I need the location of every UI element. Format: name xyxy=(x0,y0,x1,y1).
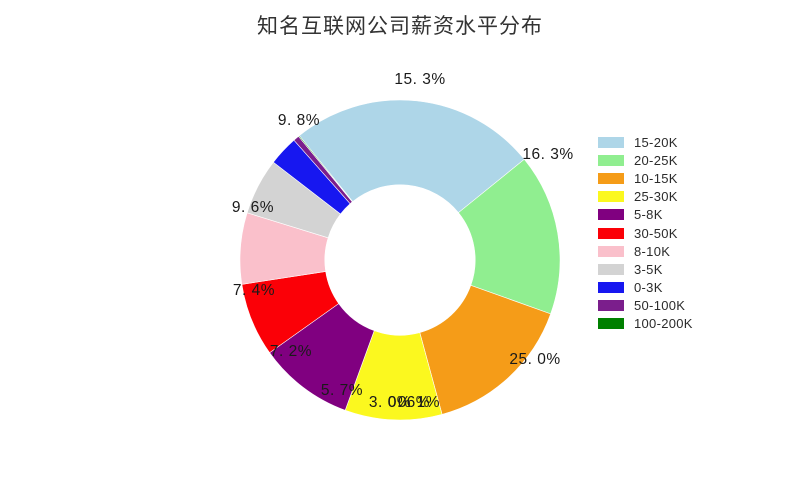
legend-item-20-25k[interactable]: 20-25K xyxy=(598,151,748,169)
legend-swatch-icon xyxy=(598,300,624,311)
legend-item-30-50k[interactable]: 30-50K xyxy=(598,224,748,242)
slice-value-label-20-25k: 16. 3% xyxy=(522,146,573,164)
slice-value-label-8-10k: 7. 2% xyxy=(270,343,312,361)
legend-swatch-icon xyxy=(598,264,624,275)
legend-item-label: 100-200K xyxy=(634,316,693,331)
legend-item-100-200k[interactable]: 100-200K xyxy=(598,315,748,333)
legend-swatch-icon xyxy=(598,191,624,202)
legend-item-label: 30-50K xyxy=(634,226,678,241)
slice-value-label-15-20k: 25. 0% xyxy=(509,351,560,369)
donut-slices xyxy=(240,100,560,420)
legend-item-label: 10-15K xyxy=(634,171,678,186)
legend-item-8-10k[interactable]: 8-10K xyxy=(598,242,748,260)
slice-value-label-25-30k: 9. 8% xyxy=(278,112,320,130)
slice-value-label-30-50k: 7. 4% xyxy=(233,282,275,300)
legend-swatch-icon xyxy=(598,282,624,293)
legend-item-label: 20-25K xyxy=(634,153,678,168)
chart-legend: 15-20K20-25K10-15K25-30K5-8K30-50K8-10K3… xyxy=(598,133,748,333)
legend-item-15-20k[interactable]: 15-20K xyxy=(598,133,748,151)
chart-title: 知名互联网公司薪资水平分布 xyxy=(0,10,800,40)
legend-item-50-100k[interactable]: 50-100K xyxy=(598,297,748,315)
legend-swatch-icon xyxy=(598,155,624,166)
legend-item-25-30k[interactable]: 25-30K xyxy=(598,188,748,206)
slice-value-label-10-15k: 15. 3% xyxy=(394,71,445,89)
legend-item-label: 0-3K xyxy=(634,280,663,295)
legend-item-10-15k[interactable]: 10-15K xyxy=(598,169,748,187)
pie-chart-figure: 知名互联网公司薪资水平分布 25. 0%16. 3%15. 3%9. 8%9. … xyxy=(0,0,800,480)
legend-swatch-icon xyxy=(598,209,624,220)
legend-swatch-icon xyxy=(598,246,624,257)
legend-item-label: 5-8K xyxy=(634,207,663,222)
legend-swatch-icon xyxy=(598,318,624,329)
legend-swatch-icon xyxy=(598,228,624,239)
legend-item-label: 3-5K xyxy=(634,262,663,277)
slice-value-label-3-5k: 5. 7% xyxy=(321,382,363,400)
legend-item-label: 15-20K xyxy=(634,135,678,150)
slice-value-label-100-200k: 0. 1% xyxy=(398,394,440,412)
legend-item-5-8k[interactable]: 5-8K xyxy=(598,206,748,224)
legend-item-3-5k[interactable]: 3-5K xyxy=(598,260,748,278)
legend-item-label: 8-10K xyxy=(634,244,670,259)
legend-swatch-icon xyxy=(598,173,624,184)
legend-item-label: 50-100K xyxy=(634,298,685,313)
slice-value-label-5-8k: 9. 6% xyxy=(232,199,274,217)
legend-swatch-icon xyxy=(598,137,624,148)
legend-item-label: 25-30K xyxy=(634,189,678,204)
legend-item-0-3k[interactable]: 0-3K xyxy=(598,279,748,297)
